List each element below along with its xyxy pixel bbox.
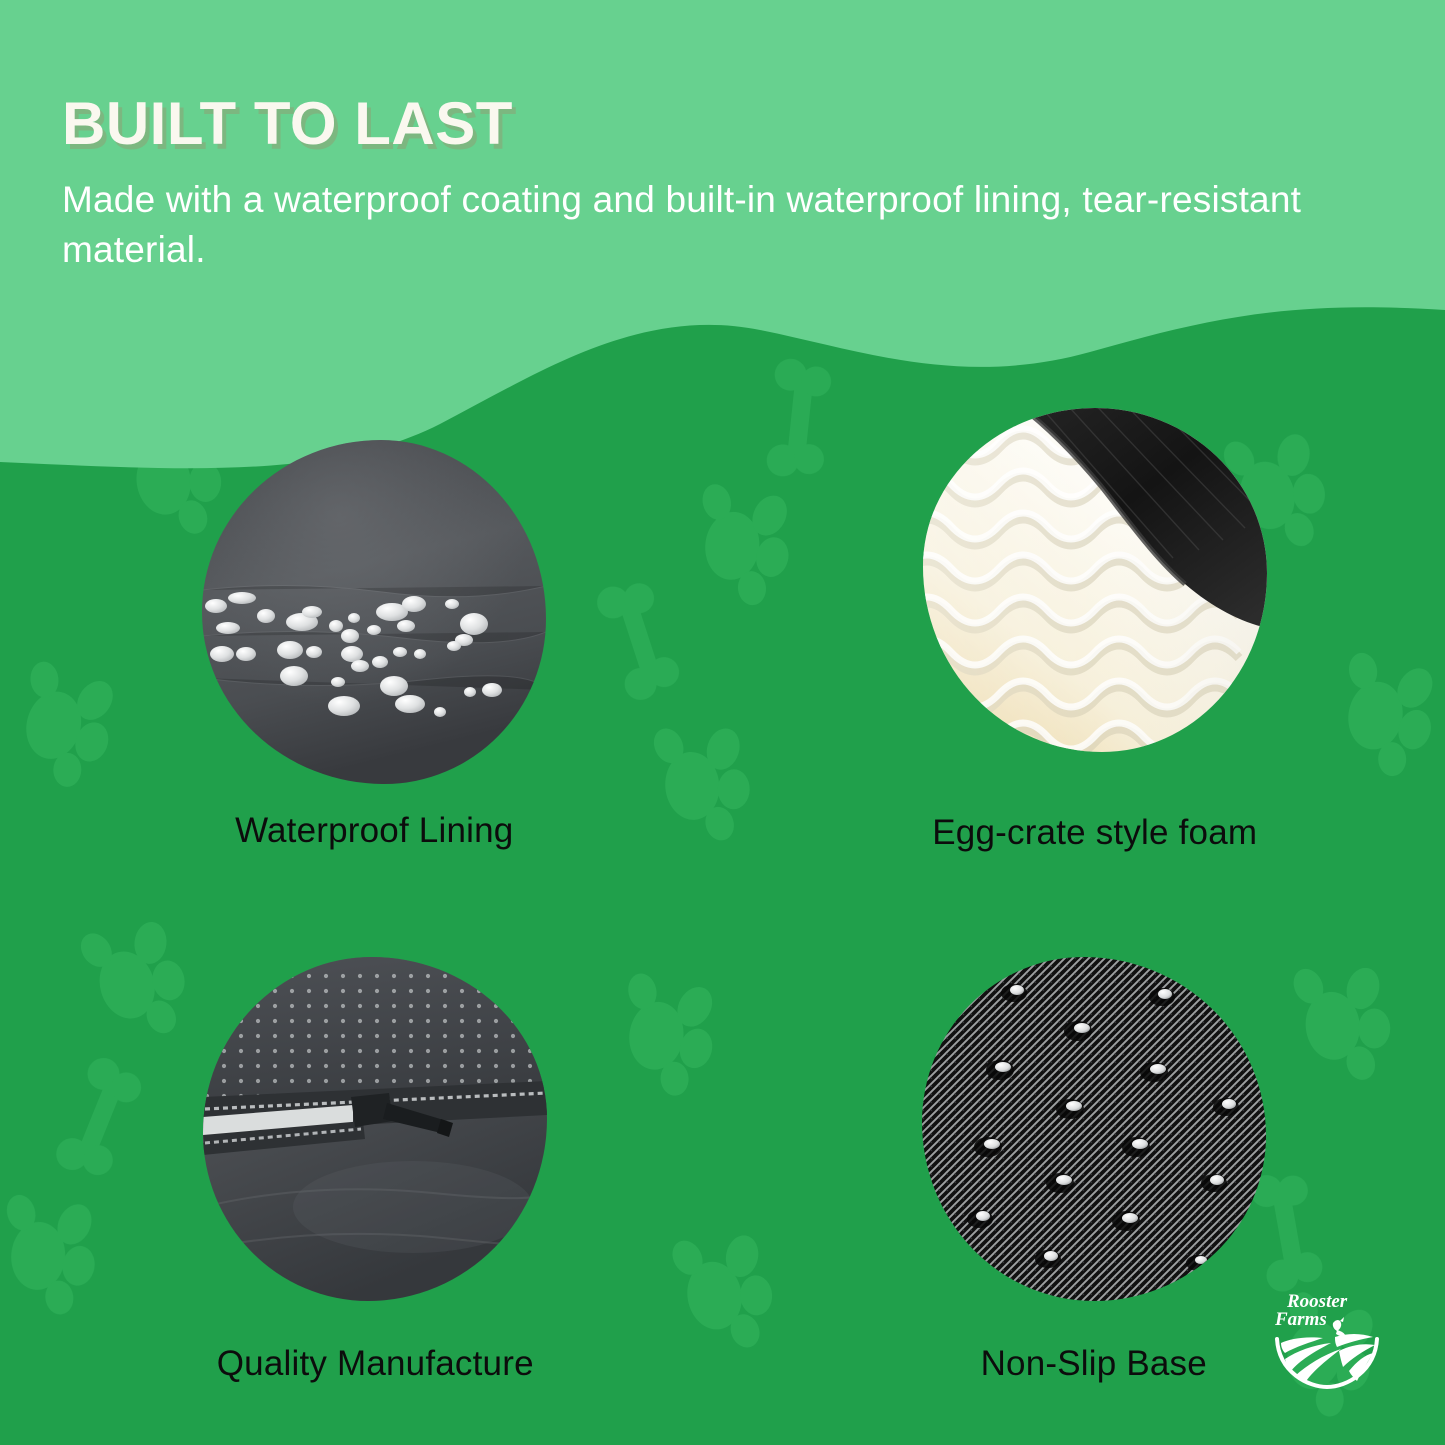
page-title: BUILT TO LAST <box>62 92 1385 155</box>
feature-item-egg-crate-foam: Egg-crate style foam <box>723 440 1445 943</box>
farm-field-logo: Rooster Farms <box>1261 1281 1393 1393</box>
page-subtitle: Made with a waterproof coating and built… <box>62 175 1332 274</box>
feature-caption: Non-Slip Base <box>981 1343 1207 1385</box>
non-slip-base-photo <box>922 957 1266 1301</box>
header-block: BUILT TO LAST Made with a waterproof coa… <box>0 0 1445 274</box>
rooster-icon <box>1333 1317 1346 1337</box>
feature-item-quality-manufacture: Quality Manufacture <box>0 943 723 1445</box>
egg-crate-foam-photo <box>923 408 1267 752</box>
infographic-root: BUILT TO LAST Made with a waterproof coa… <box>0 0 1445 1445</box>
quality-manufacture-photo <box>203 957 547 1301</box>
feature-item-waterproof-lining: Waterproof Lining <box>0 440 723 943</box>
feature-caption: Waterproof Lining <box>235 810 513 852</box>
feature-caption: Egg-crate style foam <box>932 812 1257 854</box>
waterproof-lining-photo <box>202 440 546 784</box>
brand-logo: Rooster Farms <box>1261 1281 1393 1393</box>
feature-caption: Quality Manufacture <box>217 1343 534 1385</box>
feature-grid: Waterproof Lining <box>0 440 1445 1445</box>
logo-word-farms: Farms <box>1274 1309 1327 1330</box>
